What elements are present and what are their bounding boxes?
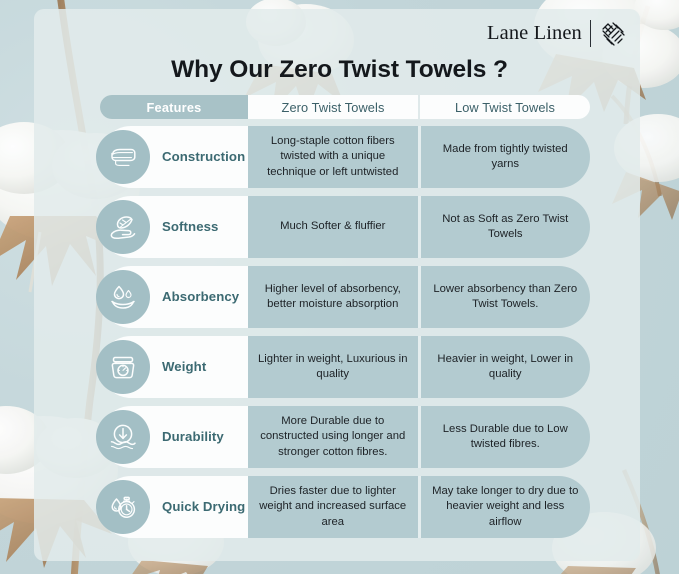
brand-logo: Lane Linen [487, 18, 625, 48]
feature-label: Absorbency [162, 289, 239, 304]
header-zero-twist: Zero Twist Towels [248, 95, 420, 119]
down-arrow-waves-icon [96, 410, 150, 464]
brand-name: Lane Linen [487, 22, 582, 45]
feature-label: Weight [162, 359, 206, 374]
feature-label: Softness [162, 219, 219, 234]
low-twist-description: Heavier in weight, Lower in quality [421, 336, 591, 398]
low-twist-description: Not as Soft as Zero Twist Towels [421, 196, 591, 258]
table-row: Absorbency Higher level of absorbency, b… [100, 266, 590, 328]
low-twist-description: Lower absorbency than Zero Twist Towels. [421, 266, 591, 328]
hand-feather-icon [96, 200, 150, 254]
table-row: Durability More Durable due to construct… [100, 406, 590, 468]
woven-lattice-icon [599, 20, 625, 46]
feature-label: Construction [162, 149, 245, 164]
water-droplets-icon [96, 270, 150, 324]
zero-twist-description: Dries faster due to lighter weight and i… [248, 476, 421, 538]
feature-label-cell: Durability [100, 406, 248, 468]
stopwatch-droplet-icon [96, 480, 150, 534]
low-twist-description: Less Durable due to Low twisted fibres. [421, 406, 591, 468]
feature-label: Quick Drying [162, 499, 245, 514]
feature-label-cell: Softness [100, 196, 248, 258]
page-title: Why Our Zero Twist Towels ? [0, 56, 679, 84]
table-row: Quick Drying Dries faster due to lighter… [100, 476, 590, 538]
feature-label: Durability [162, 429, 224, 444]
comparison-table: Features Zero Twist Towels Low Twist Tow… [100, 95, 590, 546]
table-row: Construction Long-staple cotton fibers t… [100, 126, 590, 188]
zero-twist-description: Higher level of absorbency, better moist… [248, 266, 421, 328]
table-row: Softness Much Softer & fluffier Not as S… [100, 196, 590, 258]
zero-twist-description: Lighter in weight, Luxurious in quality [248, 336, 421, 398]
feature-label-cell: Quick Drying [100, 476, 248, 538]
feature-label-cell: Construction [100, 126, 248, 188]
table-row: Weight Lighter in weight, Luxurious in q… [100, 336, 590, 398]
table-header-row: Features Zero Twist Towels Low Twist Tow… [100, 95, 590, 119]
feature-label-cell: Absorbency [100, 266, 248, 328]
zero-twist-description: More Durable due to constructed using lo… [248, 406, 421, 468]
low-twist-description: Made from tightly twisted yarns [421, 126, 591, 188]
header-low-twist: Low Twist Towels [420, 95, 590, 119]
folded-towel-icon [96, 130, 150, 184]
zero-twist-description: Much Softer & fluffier [248, 196, 421, 258]
low-twist-description: May take longer to dry due to heavier we… [421, 476, 591, 538]
feature-label-cell: Weight [100, 336, 248, 398]
logo-divider [590, 20, 591, 47]
weighing-scale-icon [96, 340, 150, 394]
header-features: Features [100, 95, 248, 119]
zero-twist-description: Long-staple cotton fibers twisted with a… [248, 126, 421, 188]
infographic-canvas: Lane Linen Why Our Zero Twist Towels ? F… [0, 0, 679, 574]
